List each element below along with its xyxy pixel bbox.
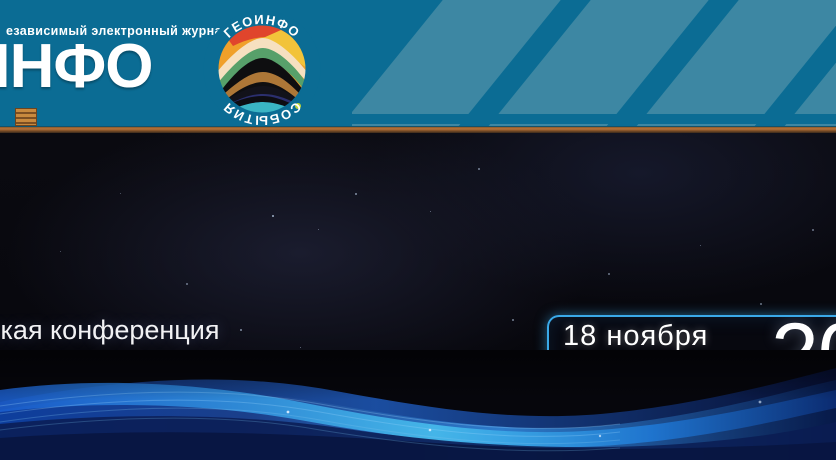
event-subtitle: еская конференция [0, 315, 219, 346]
event-date: 18 ноября [563, 320, 708, 353]
banner-body: еская конференция ТИЗАЦИЯ И ЦИФРОВИЗАЦИЯ… [0, 133, 836, 460]
conference-banner: езависимый электронный журнал ИНФО [0, 0, 836, 460]
header-divider [0, 126, 836, 133]
circular-emblem-icon[interactable]: ГЕОИНФО СОБЫТИЯ [203, 10, 321, 128]
banner-header: езависимый электронный журнал ИНФО [0, 0, 836, 133]
flowing-wave-graphic [0, 350, 836, 460]
brand-wordmark: ИНФО [0, 36, 152, 98]
striped-bars-icon [15, 108, 37, 126]
header-baseline [0, 114, 836, 124]
